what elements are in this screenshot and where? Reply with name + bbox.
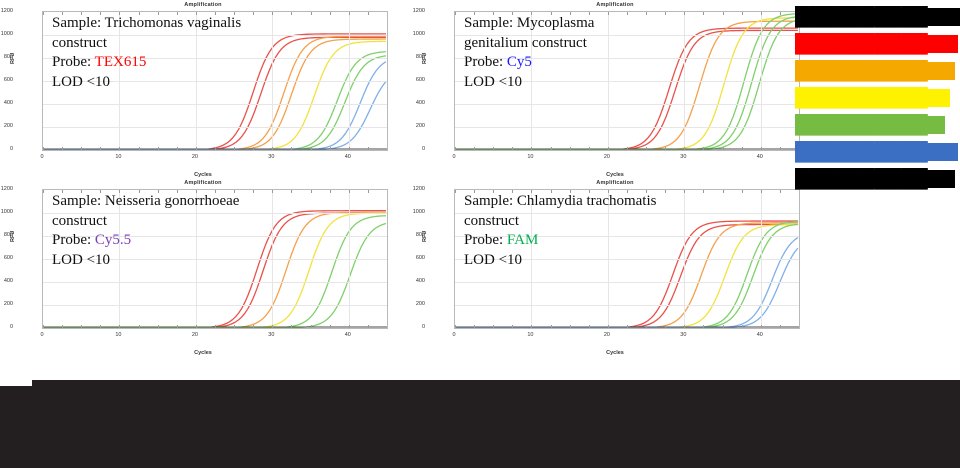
panel-chlamydia-trachomatis: Amplification RFU 120010008006004002000 … [420, 180, 810, 356]
y-tick-label: 600 [4, 255, 13, 261]
lod-line: LOD <10 [464, 73, 594, 93]
axis-tick [291, 190, 292, 193]
legend-dilution-1: ██████████ [795, 33, 960, 55]
axis-tick [531, 325, 532, 328]
axis-tick [272, 325, 273, 328]
x-tick-label: 10 [115, 154, 121, 160]
axis-tick [158, 325, 159, 328]
y-tick-label: 200 [4, 301, 13, 307]
x-axis-label: Cycles [8, 350, 398, 356]
panel-neisseria-gonorrhoeae: Amplification RFU 120010008006004002000 … [8, 180, 398, 356]
panel-title: Amplification [420, 2, 810, 8]
gridline-vertical [349, 190, 350, 328]
axis-tick [474, 325, 475, 328]
axis-tick [761, 12, 762, 15]
axis-tick [43, 325, 44, 328]
axis-tick [589, 325, 590, 328]
axis-tick [589, 147, 590, 150]
axis-tick [780, 190, 781, 193]
axis-tick [646, 12, 647, 15]
axis-tick [608, 147, 609, 150]
axis-tick [368, 325, 369, 328]
x-axis-label: Cycles [420, 350, 810, 356]
axis-tick [272, 147, 273, 150]
x-tick-label: 30 [680, 154, 686, 160]
x-tick-label: 20 [192, 154, 198, 160]
sample-name: Trichomonas vaginalis [105, 15, 242, 31]
axis-tick [684, 325, 685, 328]
axis-tick [703, 190, 704, 193]
axis-tick [62, 325, 63, 328]
x-tick-label: 10 [527, 154, 533, 160]
y-tick-label: 400 [4, 100, 13, 106]
sample-name-line2: genitalium construct [464, 34, 594, 54]
x-tick-label: 20 [192, 332, 198, 338]
y-tick-label: 0 [422, 146, 425, 152]
sample-name: Neisseria gonorrhoeae [105, 193, 240, 209]
x-tick-label: 30 [268, 154, 274, 160]
axis-tick [62, 147, 63, 150]
axis-tick [723, 325, 724, 328]
legend-dilution-1-swatch [795, 35, 958, 53]
axis-tick [387, 12, 388, 15]
axis-tick [703, 147, 704, 150]
y-tick-label: 400 [416, 100, 425, 106]
x-tick-label: 40 [345, 154, 351, 160]
legend-header: ██████████ [795, 6, 960, 28]
y-tick-label: 400 [4, 278, 13, 284]
construct-line: construct [52, 212, 239, 232]
x-tick-label: 40 [757, 154, 763, 160]
panel-title: Amplification [420, 180, 810, 186]
axis-tick [119, 147, 120, 150]
axis-tick [177, 147, 178, 150]
y-tick-label: 0 [10, 146, 13, 152]
x-tick-label: 0 [40, 332, 43, 338]
y-tick-label: 200 [416, 123, 425, 129]
y-tick-label: 0 [10, 324, 13, 330]
gridline-horizontal [455, 305, 799, 306]
axis-tick [311, 147, 312, 150]
axis-tick [474, 147, 475, 150]
axis-tick [291, 325, 292, 328]
x-axis-label: Cycles [420, 172, 810, 178]
axis-tick [551, 325, 552, 328]
axis-minor-ticks-bottom [43, 147, 387, 150]
y-tick-label: 0 [422, 324, 425, 330]
y-tick-label: 600 [416, 255, 425, 261]
axis-tick [291, 12, 292, 15]
axis-tick [761, 190, 762, 193]
gridline-horizontal [43, 305, 387, 306]
x-tick-label: 20 [604, 154, 610, 160]
x-tick-label: 0 [40, 154, 43, 160]
axis-tick [531, 147, 532, 150]
axis-tick [387, 325, 388, 328]
gridline-horizontal [43, 282, 387, 283]
axis-tick [330, 190, 331, 193]
panel-annotation: Sample: Trichomonas vaginalis construct … [52, 14, 241, 92]
axis-tick [349, 190, 350, 193]
y-tick-label: 1200 [413, 186, 425, 192]
legend-dilution-5-swatch [795, 143, 958, 161]
lod-line: LOD <10 [52, 73, 241, 93]
axis-tick [368, 190, 369, 193]
sample-line: Sample: Neisseria gonorrhoeae [52, 192, 239, 212]
probe-label: Probe: [52, 54, 91, 70]
axis-tick [455, 147, 456, 150]
legend-dilution-4: ██████████ [795, 114, 960, 136]
axis-tick [665, 147, 666, 150]
axis-tick [684, 190, 685, 193]
axis-tick [349, 12, 350, 15]
y-tick-label: 800 [416, 54, 425, 60]
axis-tick [684, 147, 685, 150]
axis-tick [703, 12, 704, 15]
axis-tick [234, 325, 235, 328]
axis-tick [215, 147, 216, 150]
gridline-horizontal [43, 127, 387, 128]
axis-tick [139, 147, 140, 150]
construct-line: construct [52, 34, 241, 54]
x-tick-label: 10 [527, 332, 533, 338]
axis-tick [158, 147, 159, 150]
axis-tick [81, 325, 82, 328]
gridline-horizontal [43, 104, 387, 105]
y-tick-label: 1000 [413, 31, 425, 37]
axis-tick [177, 325, 178, 328]
sample-line: Sample: Mycoplasma [464, 14, 594, 34]
axis-tick [387, 190, 388, 193]
probe-line: Probe: Cy5.5 [52, 231, 239, 251]
axis-tick [493, 325, 494, 328]
axis-tick [119, 325, 120, 328]
axis-tick [761, 147, 762, 150]
y-tick-label: 1000 [413, 209, 425, 215]
axis-tick [646, 147, 647, 150]
y-tick-label: 600 [4, 77, 13, 83]
x-tick-label: 40 [345, 332, 351, 338]
sample-label: Sample: [52, 193, 101, 209]
axis-tick [608, 12, 609, 15]
axis-tick [627, 147, 628, 150]
panel-title: Amplification [8, 2, 398, 8]
axis-tick [387, 147, 388, 150]
y-tick-label: 800 [4, 54, 13, 60]
axis-tick [665, 325, 666, 328]
x-tick-label: 0 [452, 154, 455, 160]
y-tick-label: 1000 [1, 209, 13, 215]
axis-tick [455, 190, 456, 193]
panel-title: Amplification [8, 180, 398, 186]
probe-value: Cy5.5 [95, 232, 131, 248]
y-tick-label: 800 [4, 232, 13, 238]
axis-tick [742, 12, 743, 15]
sample-label: Sample: [52, 15, 101, 31]
axis-tick [349, 325, 350, 328]
axis-tick [253, 325, 254, 328]
gridline-vertical [684, 190, 685, 328]
axis-tick [196, 325, 197, 328]
axis-tick [196, 147, 197, 150]
axis-tick [253, 147, 254, 150]
legend-dilution-2-swatch [795, 62, 955, 80]
axis-tick [512, 325, 513, 328]
x-tick-label: 30 [268, 332, 274, 338]
axis-tick [703, 325, 704, 328]
figure-area: Amplification RFU 120010008006004002000 … [0, 0, 960, 355]
panel-annotation: Sample: Mycoplasma genitalium construct … [464, 14, 594, 92]
y-tick-label: 1200 [1, 8, 13, 14]
axis-tick [646, 325, 647, 328]
sample-label: Sample: [464, 15, 513, 31]
axis-tick [570, 325, 571, 328]
axis-tick [43, 190, 44, 193]
probe-value: Cy5 [507, 54, 532, 70]
gridline-horizontal [455, 127, 799, 128]
axis-tick [780, 147, 781, 150]
axis-tick [627, 325, 628, 328]
axis-tick [311, 12, 312, 15]
legend-dilution-3-swatch [795, 89, 950, 107]
legend-footer-swatch [795, 170, 955, 188]
panel-annotation: Sample: Neisseria gonorrhoeae construct … [52, 192, 239, 270]
axis-tick [627, 12, 628, 15]
axis-tick [780, 325, 781, 328]
curve-dilution-5b [43, 82, 385, 150]
axis-tick [723, 190, 724, 193]
y-tick-label: 200 [416, 301, 425, 307]
panel-mycoplasma-genitalium: Amplification RFU 120010008006004002000 … [420, 2, 810, 178]
sample-name: Chlamydia trachomatis [517, 193, 657, 209]
axis-tick [215, 325, 216, 328]
axis-tick [665, 190, 666, 193]
axis-tick [330, 147, 331, 150]
axis-tick [253, 12, 254, 15]
gridline-vertical [608, 12, 609, 150]
axis-tick [43, 147, 44, 150]
axis-tick [311, 325, 312, 328]
sample-line: Sample: Chlamydia trachomatis [464, 192, 656, 212]
axis-tick [330, 325, 331, 328]
gridline-vertical [684, 12, 685, 150]
panel-annotation: Sample: Chlamydia trachomatis construct … [464, 192, 656, 270]
axis-tick [780, 12, 781, 15]
gridline-horizontal [455, 282, 799, 283]
axis-tick [330, 12, 331, 15]
axis-tick [291, 147, 292, 150]
gridline-vertical [349, 12, 350, 150]
sample-label: Sample: [464, 193, 513, 209]
construct-line: construct [464, 212, 656, 232]
y-tick-label: 1200 [1, 186, 13, 192]
axis-tick [43, 12, 44, 15]
axis-tick [551, 147, 552, 150]
axis-tick [455, 12, 456, 15]
axis-tick [253, 190, 254, 193]
axis-minor-ticks-bottom [455, 325, 799, 328]
probe-label: Probe: [52, 232, 91, 248]
probe-label: Probe: [464, 54, 503, 70]
axis-tick [742, 325, 743, 328]
lod-line: LOD <10 [52, 251, 239, 271]
x-tick-label: 40 [757, 332, 763, 338]
axis-tick [799, 325, 800, 328]
y-tick-label: 600 [416, 77, 425, 83]
axis-tick [81, 147, 82, 150]
axis-tick [349, 147, 350, 150]
x-tick-label: 20 [604, 332, 610, 338]
probe-label: Probe: [464, 232, 503, 248]
x-tick-label: 30 [680, 332, 686, 338]
axis-tick [368, 12, 369, 15]
axis-tick [100, 325, 101, 328]
probe-value: TEX615 [95, 54, 147, 70]
y-tick-label: 800 [416, 232, 425, 238]
axis-tick [723, 12, 724, 15]
gridline-vertical [272, 190, 273, 328]
axis-tick [723, 147, 724, 150]
y-tick-label: 1000 [1, 31, 13, 37]
axis-tick [272, 12, 273, 15]
panel-trichomonas-vaginalis: Amplification RFU 120010008006004002000 … [8, 2, 398, 178]
gridline-vertical [761, 12, 762, 150]
lod-line: LOD <10 [464, 251, 656, 271]
x-tick-label: 0 [452, 332, 455, 338]
x-axis-label: Cycles [8, 172, 398, 178]
bottom-banner-notch [0, 380, 32, 386]
legend-dilution-2: ██████████ [795, 60, 960, 82]
axis-tick [684, 12, 685, 15]
legend-footer: ██████████ [795, 168, 960, 190]
gridline-horizontal [455, 104, 799, 105]
axis-tick [742, 190, 743, 193]
probe-line: Probe: Cy5 [464, 53, 594, 73]
axis-tick [455, 325, 456, 328]
axis-tick [665, 12, 666, 15]
probe-line: Probe: TEX615 [52, 53, 241, 73]
axis-tick [368, 147, 369, 150]
legend-dilution-3: ██████████ [795, 87, 960, 109]
axis-tick [493, 147, 494, 150]
probe-line: Probe: FAM [464, 231, 656, 251]
axis-minor-ticks-bottom [43, 325, 387, 328]
axis-tick [311, 190, 312, 193]
y-tick-label: 400 [416, 278, 425, 284]
axis-tick [234, 147, 235, 150]
gridline-vertical [761, 190, 762, 328]
y-tick-label: 1200 [413, 8, 425, 14]
sample-line: Sample: Trichomonas vaginalis [52, 14, 241, 34]
probe-value: FAM [507, 232, 538, 248]
axis-tick [512, 147, 513, 150]
axis-tick [761, 325, 762, 328]
sample-name: Mycoplasma [517, 15, 594, 31]
axis-tick [272, 190, 273, 193]
axis-tick [742, 147, 743, 150]
legend-header-swatch [795, 8, 960, 26]
legend-dilution-4-swatch [795, 116, 945, 134]
axis-tick [100, 147, 101, 150]
y-tick-label: 200 [4, 123, 13, 129]
gridline-vertical [272, 12, 273, 150]
axis-tick [570, 147, 571, 150]
axis-minor-ticks-bottom [455, 147, 799, 150]
legend-dilution-5: ██████████ [795, 141, 960, 163]
legend: ████████████████████████████████████████… [795, 6, 960, 195]
bottom-banner [0, 380, 960, 468]
axis-tick [608, 325, 609, 328]
x-tick-label: 10 [115, 332, 121, 338]
axis-tick [139, 325, 140, 328]
